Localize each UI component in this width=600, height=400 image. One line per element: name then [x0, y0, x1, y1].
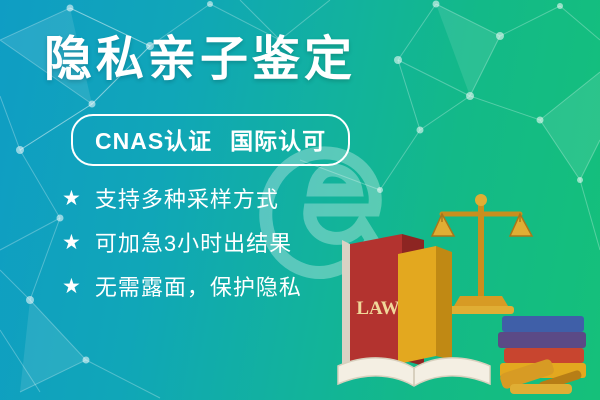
feature-list: ★ 支持多种采样方式 ★ 可加急3小时出结果 ★ 无需露面，保护隐私	[62, 176, 302, 308]
list-item: ★ 无需露面，保护隐私	[62, 264, 302, 308]
badge-international-label: 国际认可	[230, 122, 326, 156]
star-icon: ★	[62, 276, 81, 297]
law-books-illustration: LAW	[332, 170, 592, 400]
poster-headline: 隐私亲子鉴定	[44, 36, 356, 84]
poster-canvas: 隐私亲子鉴定 CNAS认证 国际认可 ★ 支持多种采样方式 ★ 可加急3小时出结…	[0, 0, 600, 400]
list-item-label: 支持多种采样方式	[95, 182, 279, 214]
law-book-label: LAW	[356, 298, 399, 319]
list-item-label: 无需露面，保护隐私	[95, 270, 302, 302]
certification-badge: CNAS认证 国际认可	[71, 114, 350, 166]
list-item-label: 可加急3小时出结果	[95, 226, 292, 258]
star-icon: ★	[62, 232, 81, 253]
book-yellow	[398, 246, 452, 364]
list-item: ★ 可加急3小时出结果	[62, 220, 302, 264]
star-icon: ★	[62, 188, 81, 209]
list-item: ★ 支持多种采样方式	[62, 176, 302, 220]
badge-cnas-label: CNAS认证	[95, 122, 212, 156]
